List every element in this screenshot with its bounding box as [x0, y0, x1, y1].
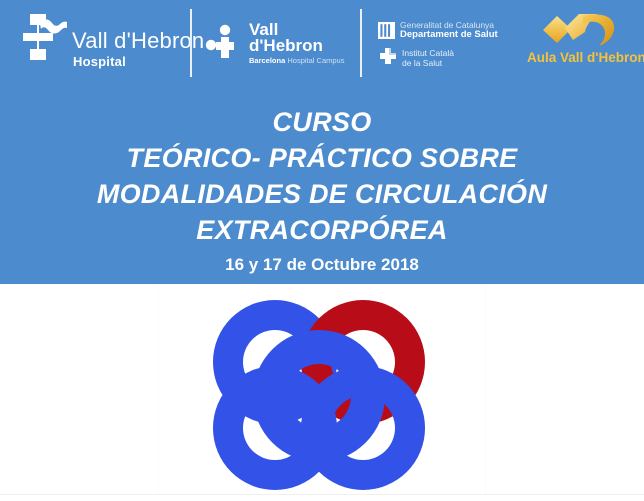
logo-divider-2 — [360, 9, 362, 77]
logo-vall-hebron-hospital: Vall d'Hebron Hospital — [14, 10, 182, 76]
logo-divider-1 — [190, 9, 192, 77]
course-date: 16 y 17 de Octubre 2018 — [0, 254, 644, 275]
logo-campus-tagline: Barcelona Hospital Campus — [249, 56, 344, 65]
course-title-block: CURSO TEÓRICO- PRÁCTICO SOBRE MODALIDADE… — [0, 104, 644, 275]
logo-aula-vall-hebron: Aula Vall d'Hebron — [527, 12, 633, 74]
logo-campus-line2: d'Hebron — [249, 37, 323, 54]
aula-label: Aula Vall d'Hebron — [527, 50, 633, 65]
logo-hospital-subtitle: Hospital — [73, 54, 126, 69]
ics-cross-icon — [378, 47, 398, 67]
logo-vall-hebron-campus: Vall d'Hebron Barcelona Hospital Campus — [205, 20, 353, 72]
title-line-2: TEÓRICO- PRÁCTICO SOBRE — [0, 140, 644, 176]
logo-generalitat-catalunya: Generalitat de Catalunya Departament de … — [378, 20, 518, 74]
ics-line1: Institut Català — [402, 48, 454, 58]
aula-ribbon-icon — [541, 12, 619, 48]
vall-hebron-flower-logo — [203, 294, 435, 494]
layout-guide-right — [485, 284, 486, 494]
layout-guide-left — [158, 284, 159, 494]
poster-page: Vall d'Hebron Hospital Vall d'Hebron Bar… — [0, 0, 644, 501]
logo-campus-tagline-rest: Hospital Campus — [285, 56, 344, 65]
generalitat-four-bars-icon — [378, 22, 395, 39]
campus-cross-dots-icon — [205, 24, 245, 64]
logo-hospital-name: Vall d'Hebron — [72, 28, 204, 54]
title-line-3: MODALIDADES DE CIRCULACIÓN — [0, 176, 644, 212]
generalitat-line2: Departament de Salut — [400, 30, 498, 40]
layout-guide-bottom — [0, 494, 644, 495]
logo-area — [0, 284, 644, 501]
logo-campus-tagline-bold: Barcelona — [249, 56, 285, 65]
title-line-1: CURSO — [0, 104, 644, 140]
hospital-cross-pulse-icon — [14, 12, 68, 70]
title-line-4: EXTRACORPÓREA — [0, 212, 644, 248]
ics-line2: de la Salut — [402, 58, 442, 68]
sponsor-logo-strip: Vall d'Hebron Hospital Vall d'Hebron Bar… — [0, 0, 644, 86]
